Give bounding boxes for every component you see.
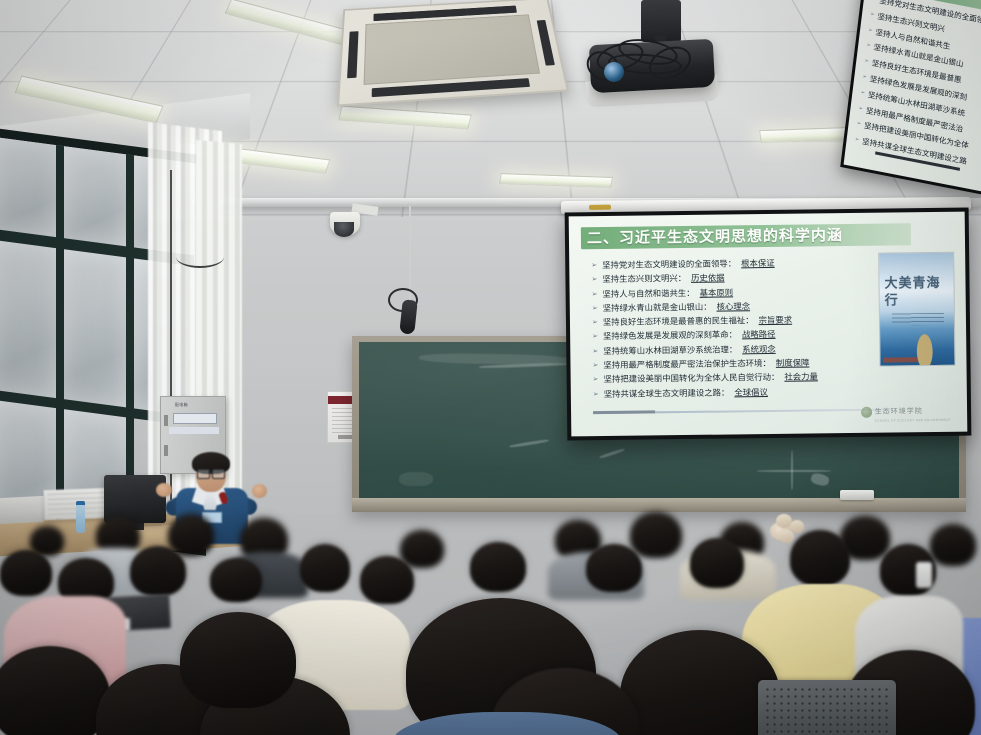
bullet-arrow-icon: ➢ (592, 287, 598, 301)
bullet-arrow-icon: ➢ (593, 387, 599, 401)
bullet-arrow-icon: ➢ (593, 372, 599, 386)
slide-title: 二、习近平生态文明思想的科学内涵 (587, 224, 917, 248)
slide-bullet: ➢坚持共谋全球生态文明建设之路：全球倡议 (593, 383, 865, 401)
audience-head (0, 550, 52, 596)
bullet-arrow-icon: ➢ (591, 258, 597, 272)
slide-footer-logo: 生态环境学院 SCHOOL OF ECOLOGY AND ENVIRONMENT (861, 400, 952, 423)
chalk-mark (419, 353, 569, 366)
slide-bullet-text: 坚持生态兴则文明兴： (602, 271, 686, 286)
audience-head (630, 512, 682, 558)
bullet-arrow-icon: ➢ (592, 330, 598, 344)
lecture-hall-photo: 配电箱 ➢坚持党对生态文明建设的全面领导➢坚持 (0, 0, 981, 735)
chalk-mark (757, 470, 831, 472)
glasses-lens (212, 469, 225, 479)
chalk-mark (599, 448, 625, 459)
projection-screen: 二、习近平生态文明思想的科学内涵 ➢坚持党对生态文明建设的全面领导：根本保证➢坚… (565, 208, 972, 441)
slide-bullet-keyword: 历史依据 (691, 271, 725, 286)
roller-label (589, 205, 611, 210)
bullet-arrow-icon: ➢ (856, 117, 862, 134)
slide-bullet-keyword: 全球倡议 (734, 385, 768, 400)
seat-back (758, 680, 896, 735)
seat-perforation (764, 686, 890, 734)
audience-head (586, 544, 642, 592)
audience-head (130, 546, 186, 596)
audience-head (300, 544, 350, 592)
slide-bullet-list: ➢坚持党对生态文明建设的全面领导：根本保证➢坚持生态兴则文明兴：历史依据➢坚持人… (591, 255, 865, 401)
school-logo-text: 生态环境学院 (875, 407, 923, 416)
ceiling-air-conditioner (337, 0, 569, 106)
slide-cover-image: 大美青海行 (878, 252, 955, 367)
bullet-arrow-icon: ➢ (592, 315, 598, 329)
hair-bun-accessory (779, 530, 794, 543)
chalk-mark (791, 450, 793, 490)
presenter-glasses-icon (197, 469, 225, 477)
ac-vent (347, 31, 358, 78)
slide-bullet-keyword: 宗旨要求 (758, 313, 792, 328)
window-pane (64, 146, 126, 246)
bullet-arrow-icon: ➢ (592, 358, 598, 372)
audience (0, 500, 981, 735)
bullet-arrow-icon: ➢ (859, 85, 865, 102)
audience-head (790, 530, 850, 586)
chalk-mark (509, 439, 549, 448)
slide-bullet-keyword: 基本原则 (700, 285, 734, 300)
slide-image-band (883, 357, 917, 362)
hair-bun-accessory (790, 520, 804, 533)
secondary-display: ➢坚持党对生态文明建设的全面领导➢坚持生态兴则文明兴➢坚持人与自然和谐共生➢坚持… (840, 0, 981, 196)
water-cup (916, 562, 932, 588)
bullet-arrow-icon: ➢ (854, 132, 860, 149)
slide-bullet-text: 坚持绿水青山就是金山银山： (603, 300, 712, 316)
secondary-slide-bullets: ➢坚持党对生态文明建设的全面领导➢坚持生态兴则文明兴➢坚持人与自然和谐共生➢坚持… (854, 0, 981, 177)
slide-bullet-keyword: 根本保证 (741, 256, 775, 271)
bullet-arrow-icon: ➢ (863, 54, 869, 71)
bullet-arrow-icon: ➢ (867, 23, 873, 40)
window-mullion (56, 145, 64, 526)
audience-head (400, 530, 444, 568)
audience-head (470, 542, 526, 592)
ac-intake-grille (364, 14, 541, 85)
presentation-slide: 二、习近平生态文明思想的科学内涵 ➢坚持党对生态文明建设的全面领导：根本保证➢坚… (569, 212, 968, 437)
school-logo-icon (861, 406, 872, 417)
glasses-lens (197, 469, 210, 479)
slide-bullet-text: 坚持共谋全球生态文明建设之路： (604, 385, 730, 401)
audience-head (930, 524, 976, 566)
bullet-arrow-icon: ➢ (592, 344, 598, 358)
window-pane (0, 137, 56, 237)
chalk-mark (810, 472, 830, 487)
bullet-arrow-icon: ➢ (865, 38, 871, 55)
slide-bullet-text: 坚持人与自然和谐共生： (602, 285, 694, 300)
presenter-left-hand (156, 483, 172, 497)
cabinet-label (173, 413, 217, 424)
slide-image-caption: 大美青海行 (884, 275, 948, 310)
school-logo-subtext: SCHOOL OF ECOLOGY AND ENVIRONMENT (875, 418, 951, 423)
bullet-arrow-icon: ➢ (857, 101, 863, 118)
slide-bullet-keyword: 社会力量 (784, 370, 818, 385)
bullet-arrow-icon: ➢ (861, 70, 867, 87)
audience-head (360, 556, 414, 604)
audience-head (690, 538, 744, 588)
slide-bullet-keyword: 系统观念 (742, 342, 776, 357)
audience-head (168, 514, 214, 556)
slide-image-subtext (892, 313, 944, 326)
bullet-arrow-icon: ➢ (591, 272, 597, 286)
camera-dome-icon (334, 222, 354, 237)
presenter-right-hand (252, 484, 267, 498)
chalk-mark (399, 472, 433, 486)
wall-cable (176, 246, 224, 268)
chalkboard-eraser (840, 490, 874, 500)
bullet-arrow-icon: ➢ (869, 7, 875, 24)
audience-head (210, 558, 262, 602)
window-pane (0, 240, 56, 398)
window-pane (64, 249, 126, 407)
slide-divider-accent (593, 410, 655, 414)
audience-head-foreground (180, 612, 296, 708)
cabinet-hinge (164, 415, 168, 426)
slide-bullet-keyword: 制度保障 (776, 356, 810, 371)
ac-vent (537, 20, 555, 66)
cabinet-label-secondary (169, 427, 219, 434)
bullet-arrow-icon: ➢ (592, 301, 598, 315)
slide-bullet-keyword: 战略路径 (742, 327, 776, 342)
cabinet-tag: 配电箱 (175, 402, 188, 408)
slide-bullet-keyword: 核心理念 (716, 299, 750, 314)
secondary-slide: ➢坚持党对生态文明建设的全面领导➢坚持生态兴则文明兴➢坚持人与自然和谐共生➢坚持… (844, 0, 981, 192)
